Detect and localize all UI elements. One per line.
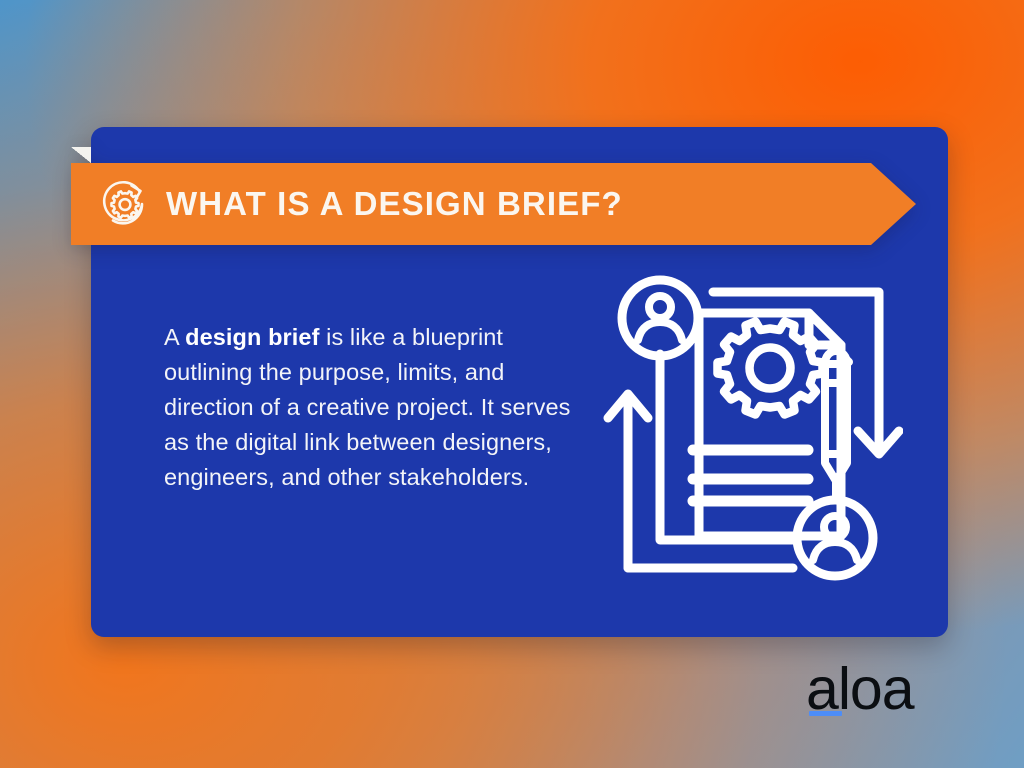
page-title: WHAT IS A DESIGN BRIEF? [166,163,623,245]
design-brief-workflow-illustration [603,268,903,588]
paragraph-emphasis: design brief [185,324,319,350]
section-header-banner: WHAT IS A DESIGN BRIEF? [71,163,916,245]
banner-ribbon-fold [71,147,91,163]
logo-wordmark: aloa [806,660,938,718]
gear-refresh-icon [95,174,155,234]
body-paragraph: A design brief is like a blueprint outli… [164,320,574,495]
document-text-lines [693,450,808,501]
paragraph-lead: A [164,324,185,350]
slide-canvas: WHAT IS A DESIGN BRIEF? A design brief i… [0,0,1024,768]
gear-icon [718,322,823,415]
user-avatar-top-left-icon [622,280,698,356]
aloa-logo[interactable]: aloa [806,660,938,722]
logo-underline-accent [809,711,842,716]
